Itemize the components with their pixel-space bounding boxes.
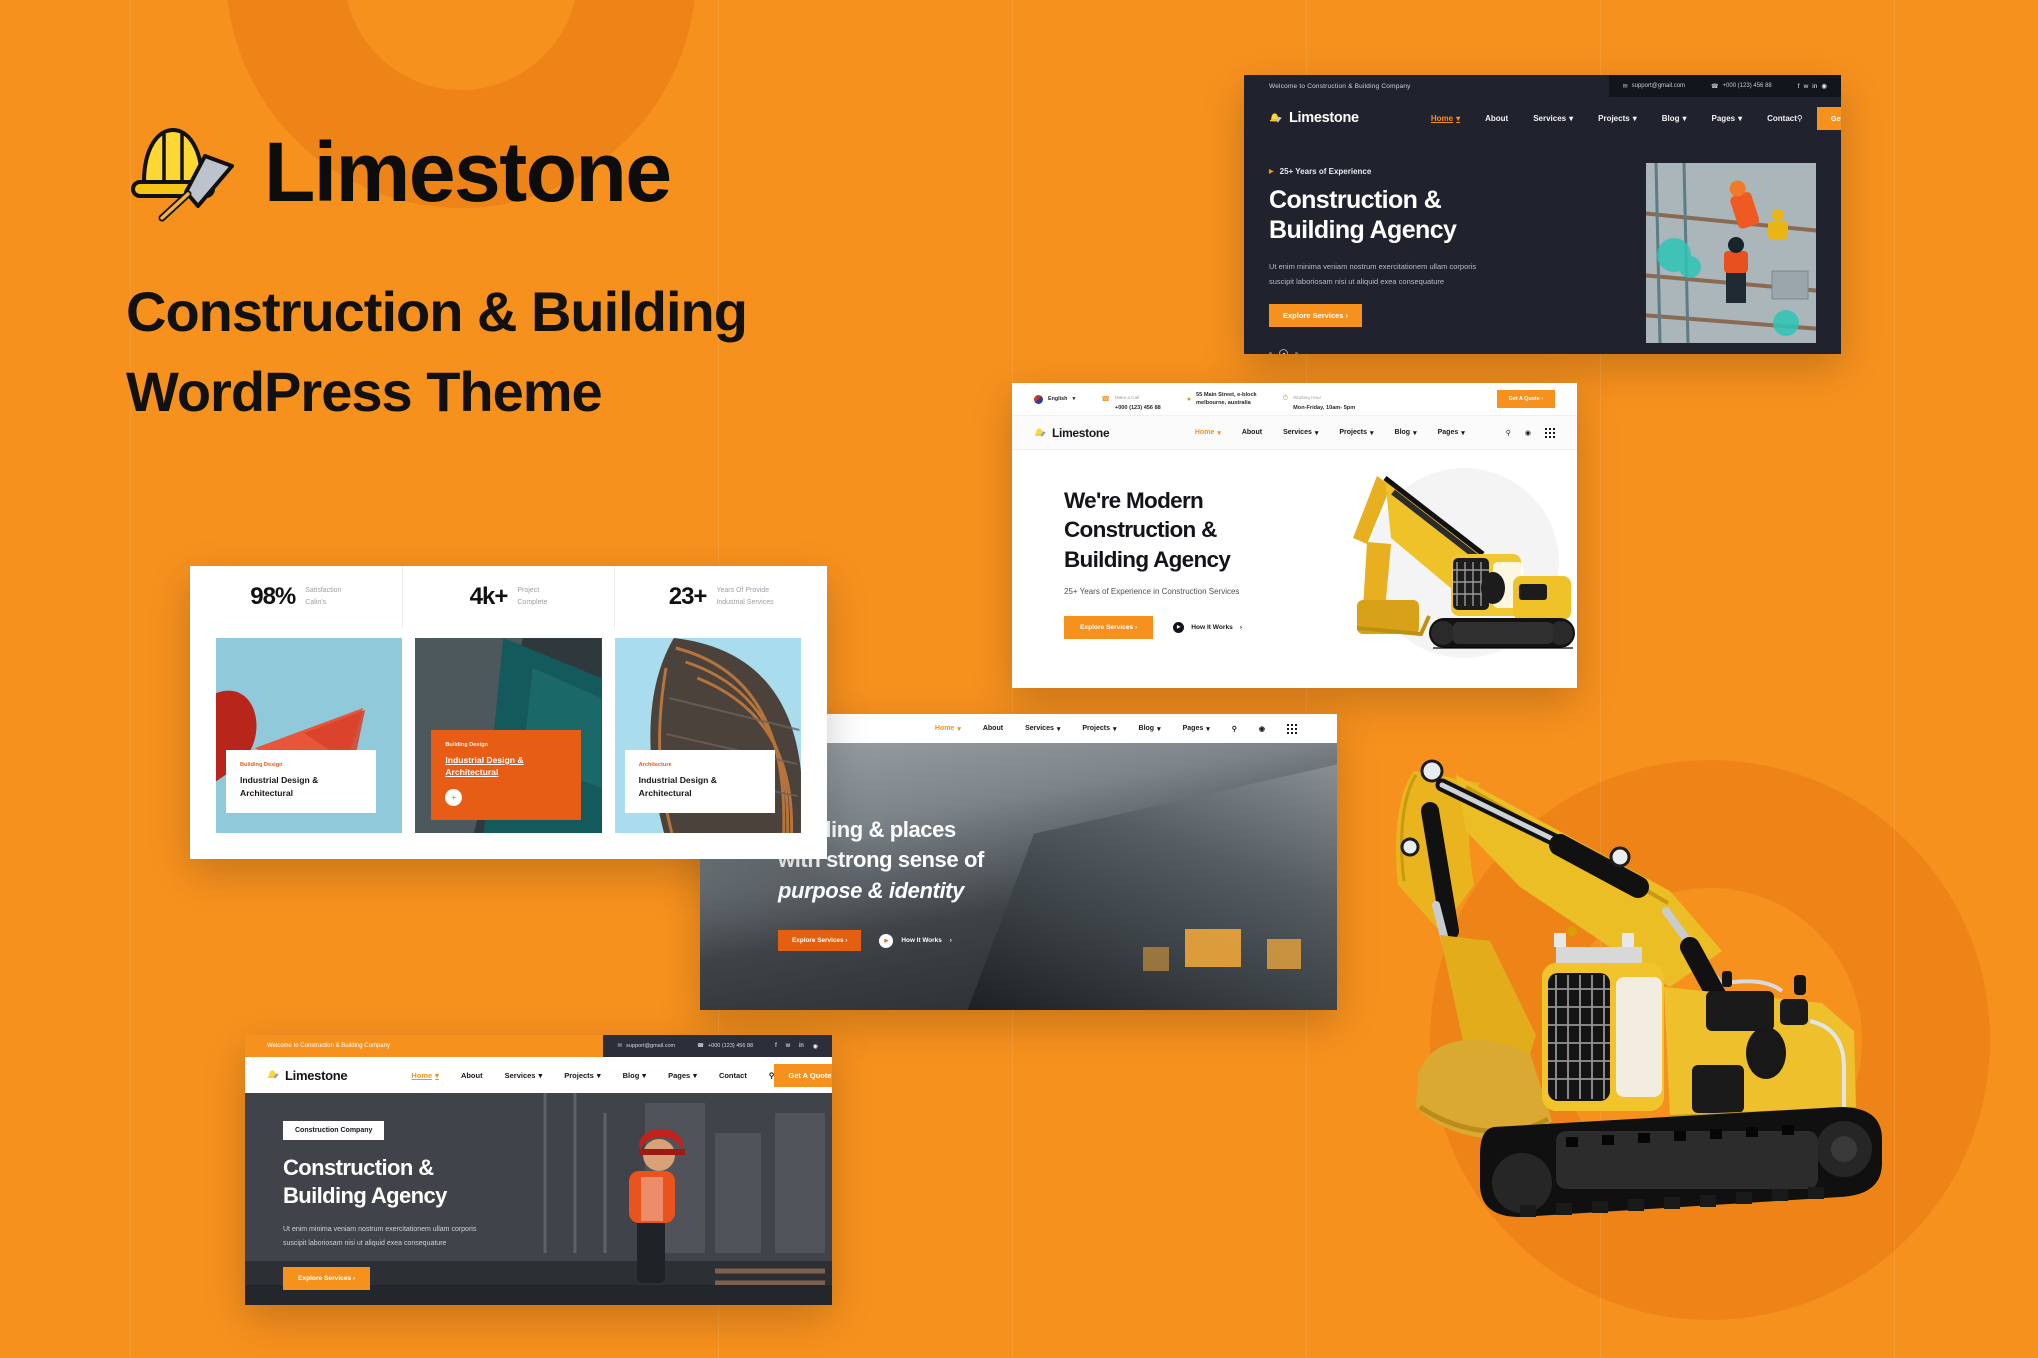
menu-item-pages[interactable]: Pages▾ <box>668 1071 697 1080</box>
facebook-icon[interactable]: f <box>1798 83 1800 90</box>
mock5-menu[interactable]: Home▾ About Services▾ Projects▾ Blog▾ Pa… <box>411 1071 774 1080</box>
hero-image <box>1646 163 1816 343</box>
facebook-icon[interactable]: f <box>775 1043 777 1049</box>
email-item[interactable]: ✉support@gmail.com <box>1623 83 1685 90</box>
mock1-navbar[interactable]: Limestone Home▾ About Services▾ Projects… <box>1244 97 1841 139</box>
mockup-white-excavator[interactable]: English ▾ ☎ Make a Call +000 (123) 456 8… <box>1012 383 1577 688</box>
card-title: Industrial Design & Architectural <box>639 774 761 799</box>
stat-caption: Years Of Provide Industrial Services <box>716 585 773 608</box>
menu-item-home[interactable]: Home▾ <box>935 725 961 733</box>
contact-bar: ✉support@gmail.com ☎+000 (123) 456 88 f … <box>1609 75 1841 97</box>
linkedin-icon[interactable]: in <box>1812 83 1817 90</box>
phone-item[interactable]: ☎+000 (123) 456 88 <box>1711 83 1772 90</box>
mock1-topbar: Welcome to Construction & Building Compa… <box>1244 75 1841 97</box>
hero-slider-dots[interactable] <box>1269 349 1584 354</box>
get-a-quote-button[interactable]: Get A Quote › <box>774 1064 832 1087</box>
hero-paragraph-line-1: Ut enim minima veniam nostrum exercitati… <box>1269 259 1584 274</box>
call-value: +000 (123) 456 88 <box>1115 404 1161 412</box>
explore-services-button[interactable]: Explore Services › <box>283 1267 370 1290</box>
email-text: support@gmail.com <box>1632 83 1685 89</box>
instagram-icon[interactable]: ◉ <box>1821 82 1827 90</box>
brand-row: Limestone <box>126 120 946 224</box>
linkedin-icon[interactable]: in <box>799 1043 804 1049</box>
menu-item-pages[interactable]: Pages▾ <box>1712 114 1743 123</box>
instagram-icon[interactable]: ◉ <box>813 1043 818 1050</box>
menu-item-home[interactable]: Home▾ <box>1195 429 1221 437</box>
hero-title-line-3: purpose & identity <box>778 878 964 903</box>
helmet-trowel-logo-icon <box>1034 427 1047 439</box>
menu-item-services[interactable]: Services▾ <box>1283 429 1318 437</box>
project-card[interactable]: Building Design Industrial Design & Arch… <box>216 638 402 833</box>
hero-paragraph-line-2: suscipit laboriosam nisi ut aliquid exea… <box>1269 274 1584 289</box>
excavator-illustration <box>1370 735 1950 1295</box>
stat-value: 98% <box>250 583 295 611</box>
card-kicker: Building Design <box>240 762 362 768</box>
get-a-quote-button[interactable]: Get A Quote › <box>1817 107 1841 130</box>
project-cards: Building Design Industrial Design & Arch… <box>190 628 827 859</box>
card-title: Industrial Design & Architectural <box>240 774 362 799</box>
tagline: Construction & Building WordPress Theme <box>126 272 946 431</box>
menu-item-home[interactable]: Home▾ <box>1431 114 1460 123</box>
hero-title-line-2: Building Agency <box>283 1182 613 1210</box>
hero-title: Construction & Building Agency <box>283 1154 613 1210</box>
menu-item-about[interactable]: About <box>461 1071 483 1080</box>
tagline-line-2: WordPress Theme <box>126 352 946 432</box>
hero-image <box>1333 458 1577 668</box>
helmet-trowel-logo-icon <box>1269 112 1283 125</box>
hero-title-line-1: Construction & <box>283 1154 613 1182</box>
mock5-topbar: Welcome to Construction & Building Compa… <box>245 1035 832 1057</box>
project-card[interactable]: Building Design Industrial Design & Arch… <box>415 638 601 833</box>
search-icon[interactable]: ⚲ <box>1797 114 1803 123</box>
search-icon[interactable]: ⚲ <box>1232 725 1237 733</box>
explore-services-button[interactable]: Explore Services › <box>1064 616 1153 639</box>
welcome-text: Welcome to Construction & Building Compa… <box>1244 83 1411 90</box>
menu-item-blog[interactable]: Blog▾ <box>623 1071 646 1080</box>
mockup-dark-hero[interactable]: Welcome to Construction & Building Compa… <box>1244 75 1841 354</box>
mock2-topbar: English ▾ ☎ Make a Call +000 (123) 456 8… <box>1012 383 1577 416</box>
mock1-hero: 25+ Years of Experience Construction & B… <box>1244 139 1841 354</box>
menu-item-projects[interactable]: Projects▾ <box>1339 429 1373 437</box>
how-it-works-button[interactable]: ▶How It Works › <box>879 934 952 948</box>
mock2-navbar[interactable]: Limestone Home▾ About Services▾ Projects… <box>1012 416 1577 450</box>
social-links[interactable]: f w in ◉ <box>775 1043 818 1050</box>
menu-item-projects[interactable]: Projects▾ <box>564 1071 600 1080</box>
mock1-menu[interactable]: Home▾ About Services▾ Projects▾ Blog▾ Pa… <box>1431 114 1797 123</box>
how-it-works-button[interactable]: ▶How It Works › <box>1173 622 1242 633</box>
menu-item-blog[interactable]: Blog▾ <box>1139 725 1161 733</box>
get-a-quote-button[interactable]: Get A Quote › <box>1497 390 1555 408</box>
mock5-logo[interactable]: Limestone <box>267 1068 347 1083</box>
topbar-call[interactable]: ☎ Make a Call +000 (123) 456 88 <box>1101 386 1161 412</box>
menu-item-services[interactable]: Services▾ <box>1025 725 1060 733</box>
card-kicker: Building Design <box>445 742 567 748</box>
language-label: English <box>1048 396 1067 402</box>
twitter-icon[interactable]: w <box>1804 83 1809 90</box>
mock1-logo[interactable]: Limestone <box>1269 110 1359 126</box>
phone-icon: ☎ <box>1101 395 1110 403</box>
mock5-navbar[interactable]: Limestone Home▾ About Services▾ Projects… <box>245 1057 832 1093</box>
hours-label: Working Hour <box>1293 395 1321 400</box>
address-line-2: melbourne, australia <box>1196 399 1257 407</box>
menu-item-about[interactable]: About <box>1485 114 1508 123</box>
stat-item: 98% Satisfaction Calin's <box>190 566 402 628</box>
menu-item-blog[interactable]: Blog▾ <box>1395 429 1417 437</box>
project-card[interactable]: Architecture Industrial Design & Archite… <box>615 638 801 833</box>
hero-badge: Construction Company <box>283 1121 384 1140</box>
mock5-hero-text: Construction Company Construction & Buil… <box>283 1119 613 1290</box>
grid-menu-icon[interactable] <box>1545 428 1555 438</box>
stat-caption: Satisfaction Calin's <box>305 585 341 608</box>
menu-item-home[interactable]: Home▾ <box>411 1071 439 1080</box>
menu-item-pages[interactable]: Pages▾ <box>1183 725 1210 733</box>
cart-icon[interactable]: ◉ <box>1525 429 1531 437</box>
menu-item-about[interactable]: About <box>983 725 1003 732</box>
mockup-stats-projects[interactable]: 98% Satisfaction Calin's 4k+ Project Com… <box>190 566 827 859</box>
menu-item-blog[interactable]: Blog▾ <box>1662 114 1687 123</box>
welcome-text: Welcome to Construction & Building Compa… <box>245 1043 390 1049</box>
mock1-nav-right[interactable]: ⚲ Get A Quote › <box>1797 107 1841 130</box>
card-title: Industrial Design & Architectural <box>445 754 567 779</box>
topbar-hours: ⏱ Working Hour Mon-Friday, 10am- 5pm <box>1283 386 1356 412</box>
menu-item-services[interactable]: Services▾ <box>505 1071 543 1080</box>
hero-title-line-2: Building Agency <box>1269 216 1584 246</box>
address-line-1: 55 Main Street, e-block <box>1196 391 1257 399</box>
menu-item-projects[interactable]: Projects▾ <box>1082 725 1116 733</box>
phone-text: +000 (123) 456 88 <box>708 1043 753 1049</box>
hero-paragraph-line-1: Ut enim minima veniam nostrum exercitati… <box>283 1223 613 1237</box>
headline-block: Limestone Construction & Building WordPr… <box>126 120 946 431</box>
hero-title: Construction & Building Agency <box>1269 186 1584 245</box>
hours-value: Mon-Friday, 10am- 5pm <box>1293 404 1355 412</box>
clock-icon: ⏱ <box>1283 395 1288 403</box>
card-label: Architecture Industrial Design & Archite… <box>625 750 775 813</box>
phone-item[interactable]: ☎+000 (123) 456 88 <box>697 1043 753 1049</box>
call-label: Make a Call <box>1115 395 1139 400</box>
menu-item-projects[interactable]: Projects▾ <box>1598 114 1637 123</box>
brand-name: Limestone <box>264 130 671 214</box>
phone-text: +000 (123) 456 88 <box>1723 83 1772 89</box>
flag-icon <box>1034 395 1043 404</box>
search-icon[interactable]: ⚲ <box>1506 429 1511 437</box>
stat-caption: Project Complete <box>517 585 547 608</box>
stat-item: 23+ Years Of Provide Industrial Services <box>614 566 827 628</box>
hero-eyebrow: 25+ Years of Experience <box>1269 167 1584 176</box>
card-label: Building Design Industrial Design & Arch… <box>431 730 581 820</box>
stat-item: 4k+ Project Complete <box>402 566 615 628</box>
card-kicker: Architecture <box>639 762 761 768</box>
plus-icon[interactable]: + <box>445 789 462 806</box>
email-item[interactable]: ✉support@gmail.com <box>617 1043 675 1049</box>
mock5-logo-text: Limestone <box>285 1068 347 1083</box>
menu-item-pages[interactable]: Pages▾ <box>1438 429 1465 437</box>
play-icon: ▶ <box>879 934 893 948</box>
explore-services-button[interactable]: Explore Services › <box>1269 304 1362 327</box>
menu-item-contact[interactable]: Contact <box>719 1071 747 1080</box>
mock5-nav-right[interactable]: Get A Quote › <box>774 1064 832 1087</box>
mock1-logo-text: Limestone <box>1289 110 1359 126</box>
mock2-hero: We're Modern Construction & Building Age… <box>1012 450 1577 688</box>
topbar-address: ● 55 Main Street, e-block melbourne, aus… <box>1187 391 1257 408</box>
menu-item-contact[interactable]: Contact <box>1767 114 1797 123</box>
menu-item-about[interactable]: About <box>1242 429 1262 436</box>
language-selector[interactable]: English ▾ <box>1034 395 1075 404</box>
stat-value: 4k+ <box>470 583 508 611</box>
contact-bar: ✉support@gmail.com ☎+000 (123) 456 88 f … <box>603 1035 832 1057</box>
social-links[interactable]: f w in ◉ <box>1798 82 1827 90</box>
helmet-trowel-logo-icon <box>267 1069 280 1081</box>
mock5-hero: Construction Company Construction & Buil… <box>245 1093 832 1305</box>
chevron-down-icon: ▾ <box>1072 396 1075 402</box>
email-text: support@gmail.com <box>626 1043 675 1049</box>
stat-value: 23+ <box>669 583 707 611</box>
stats-row: 98% Satisfaction Calin's 4k+ Project Com… <box>190 566 827 628</box>
mock2-logo-text: Limestone <box>1052 426 1109 440</box>
card-label: Building Design Industrial Design & Arch… <box>226 750 376 813</box>
helmet-trowel-logo-icon <box>126 120 242 224</box>
hero-paragraph: Ut enim minima veniam nostrum exercitati… <box>1269 259 1584 289</box>
play-icon: ▶ <box>1173 622 1184 633</box>
tagline-line-1: Construction & Building <box>126 272 946 352</box>
location-icon: ● <box>1187 396 1191 403</box>
hero-paragraph-line-2: suscipit laboriosam nisi ut aliquid exea… <box>283 1237 613 1251</box>
explore-services-button[interactable]: Explore Services › <box>778 930 861 951</box>
mock2-menu[interactable]: Home▾ About Services▾ Projects▾ Blog▾ Pa… <box>1195 428 1555 438</box>
mock2-logo[interactable]: Limestone <box>1034 426 1109 440</box>
cart-icon[interactable]: ◉ <box>1259 725 1265 733</box>
twitter-icon[interactable]: w <box>786 1043 790 1049</box>
hero-title-line-1: Construction & <box>1269 186 1584 216</box>
mockup-worker-hero[interactable]: Welcome to Construction & Building Compa… <box>245 1035 832 1305</box>
grid-menu-icon[interactable] <box>1287 724 1297 734</box>
hero-paragraph: Ut enim minima veniam nostrum exercitati… <box>283 1223 613 1251</box>
menu-item-services[interactable]: Services▾ <box>1533 114 1573 123</box>
